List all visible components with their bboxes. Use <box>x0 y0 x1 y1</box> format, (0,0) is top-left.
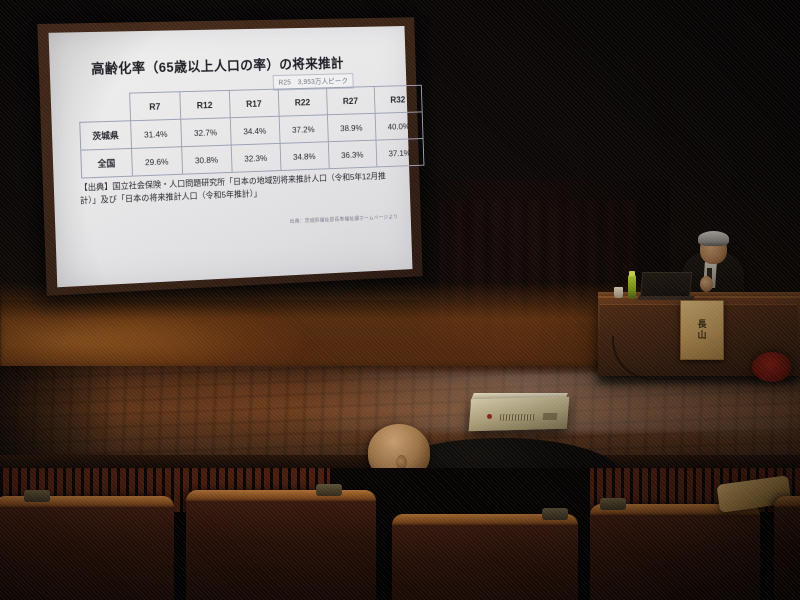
cell-national-r17: 32.3% <box>231 143 281 172</box>
projector-label <box>543 413 558 420</box>
cell-national-r27: 36.3% <box>328 140 377 169</box>
cell-ibaraki-r32: 40.0% <box>375 112 423 140</box>
projection-screen: 高齢化率（65歳以上人口の率）の将来推計 R25 3,953万人ピーク R7 R… <box>49 26 413 287</box>
seat-tag <box>316 484 342 496</box>
col-header-r27: R27 <box>326 87 375 115</box>
green-bottle <box>628 275 636 299</box>
table-corner-cell <box>79 93 130 122</box>
seat-tag <box>600 498 626 510</box>
col-header-r22: R22 <box>278 88 327 116</box>
cell-ibaraki-r12: 32.7% <box>180 118 230 147</box>
cell-national-r12: 30.8% <box>181 145 231 174</box>
projection-screen-frame: 高齢化率（65歳以上人口の率）の将来推計 R25 3,953万人ピーク R7 R… <box>37 17 422 296</box>
projected-slide: 高齢化率（65歳以上人口の率）の将来推計 R25 3,953万人ピーク R7 R… <box>49 26 413 287</box>
auditorium-seat <box>0 496 174 600</box>
wall-light-hotspot <box>0 300 300 370</box>
auditorium-seat <box>774 496 800 600</box>
col-header-r12: R12 <box>179 90 229 119</box>
red-drum-object <box>752 352 792 382</box>
projection-rate-table: R7 R12 R17 R22 R27 R32 茨城県 31.4% 32.7% 3… <box>78 85 424 179</box>
bottle-cap <box>629 271 635 276</box>
auditorium-seat <box>590 504 760 600</box>
col-header-r17: R17 <box>229 89 279 118</box>
seat-tag <box>542 508 568 520</box>
cell-ibaraki-r27: 38.9% <box>327 113 376 141</box>
seat-top-edge <box>774 496 800 507</box>
cell-national-r7: 29.6% <box>131 147 182 176</box>
paper-cup <box>614 287 623 298</box>
speaker-hand <box>700 276 713 292</box>
seat-tag <box>24 490 50 502</box>
col-header-r7: R7 <box>129 92 180 121</box>
slide-source-credit: 出典：茨城県福祉部長寿福祉課ホームページより <box>289 213 398 225</box>
col-header-r32: R32 <box>374 85 422 113</box>
cell-national-r22: 34.8% <box>280 142 329 171</box>
cell-ibaraki-r7: 31.4% <box>130 119 181 148</box>
cell-national-r32: 37.1% <box>376 139 424 167</box>
row-label-ibaraki: 茨城県 <box>80 121 131 150</box>
speaker-hair <box>698 231 729 246</box>
seat-top-edge <box>186 490 376 501</box>
auditorium-seat <box>186 490 376 600</box>
projector-vent <box>500 414 535 421</box>
cell-ibaraki-r17: 34.4% <box>230 116 280 145</box>
row-label-national: 全国 <box>81 148 132 178</box>
lecture-hall-photo: 高齢化率（65歳以上人口の率）の将来推計 R25 3,953万人ピーク R7 R… <box>0 0 800 600</box>
projector-indicator-light <box>487 414 492 419</box>
auditorium-seat <box>392 514 578 600</box>
cell-ibaraki-r22: 37.2% <box>279 115 328 144</box>
